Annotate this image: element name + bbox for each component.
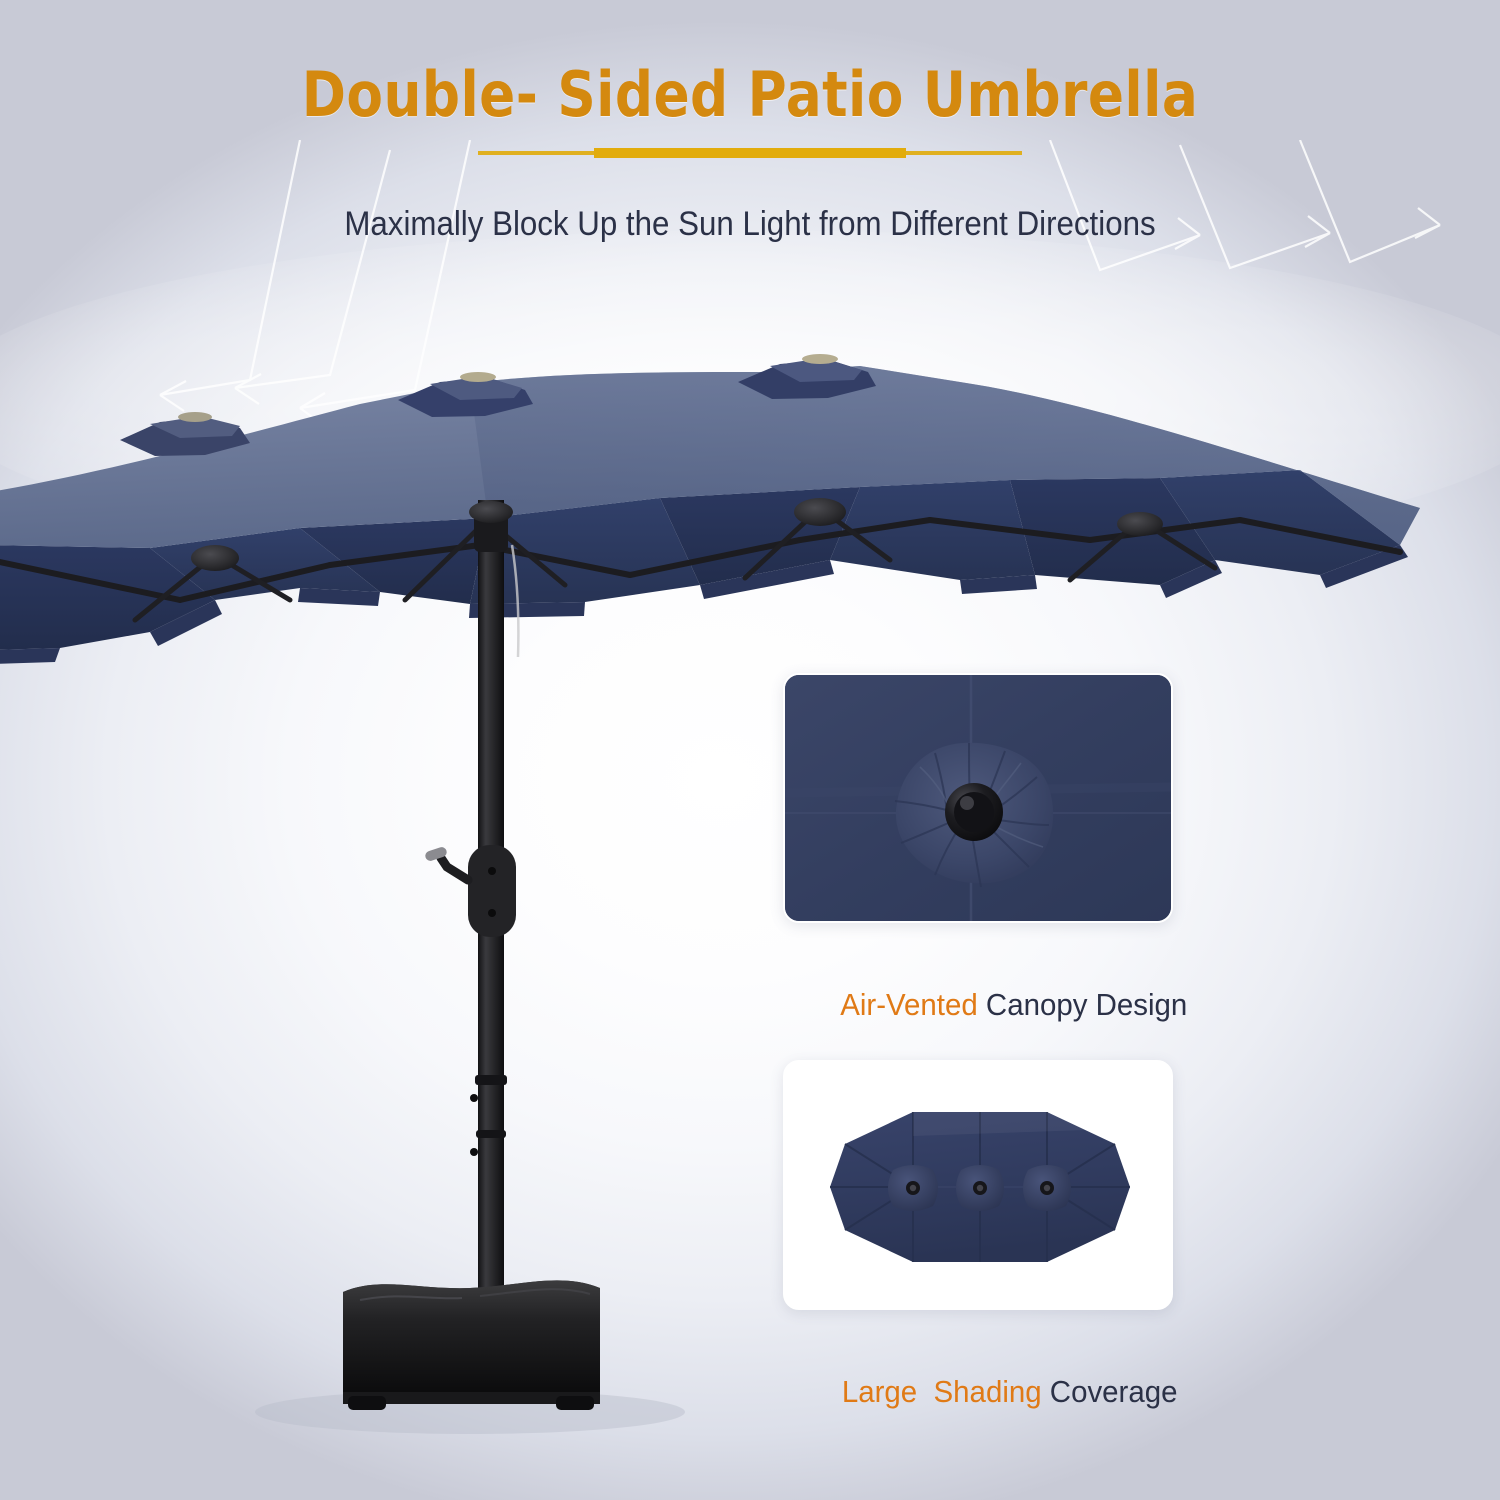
page-subtitle: Maximally Block Up the Sun Light from Di… [60, 205, 1440, 244]
caption-highlight-shade: Large Shading [842, 1374, 1042, 1409]
feature-caption-shade: Large Shading Coverage [793, 1338, 1164, 1446]
rib-hubs [191, 498, 1163, 571]
canopy-ribs [0, 520, 1400, 600]
canopy-top-surface [0, 366, 1420, 548]
caption-rest-vent: Canopy Design [978, 987, 1188, 1022]
title-divider [0, 145, 1500, 161]
feature-caption-vent: Air-Vented Canopy Design [793, 951, 1164, 1059]
header: Double- Sided Patio Umbrella Maximally B… [0, 0, 1500, 244]
background-glow [0, 230, 1500, 570]
umbrella-base [343, 1280, 600, 1410]
caption-rest-shade: Coverage [1042, 1374, 1178, 1409]
feature-image-card-shade [783, 1060, 1173, 1310]
canopy-struts [135, 508, 1215, 620]
crank-handle [424, 845, 516, 937]
vent-cap [945, 783, 1003, 841]
divider-thick-rule [594, 148, 906, 158]
top-down-vent-hubs [888, 1165, 1071, 1211]
caption-highlight-vent: Air-Vented [840, 987, 978, 1022]
canopy-vent-caps [120, 354, 876, 456]
canopy-vent-closeup-image [785, 675, 1173, 923]
page-title: Double- Sided Patio Umbrella [105, 62, 1395, 129]
feature-air-vented-canopy: Air-Vented Canopy Design [783, 673, 1173, 1059]
canopy-scalloped-edge [0, 545, 1408, 664]
umbrella-top-down-image [785, 1062, 1173, 1310]
feature-large-shading-coverage: Large Shading Coverage [783, 1060, 1173, 1446]
center-pole [469, 500, 518, 1300]
marketing-image: Double- Sided Patio Umbrella Maximally B… [0, 0, 1500, 1500]
feature-image-card-vent [783, 673, 1173, 923]
canopy-underside [0, 470, 1400, 650]
